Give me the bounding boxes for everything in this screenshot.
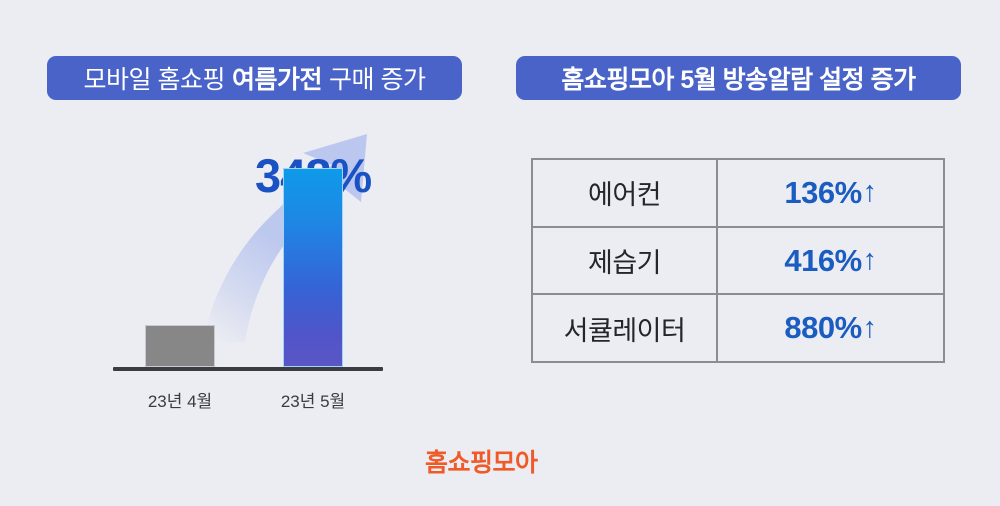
table-row: 제습기 416%↑ bbox=[533, 228, 943, 296]
table-value-number: 880% bbox=[784, 310, 861, 346]
axis-tick-may: 23년 5월 bbox=[257, 387, 369, 412]
bar-april bbox=[145, 325, 215, 367]
arrow-up-icon: ↑ bbox=[863, 176, 877, 209]
bar-may bbox=[283, 168, 343, 367]
axis-tick-april: 23년 4월 bbox=[124, 387, 236, 412]
arrow-up-icon: ↑ bbox=[863, 312, 877, 345]
banner-left-part3: 구매 증가 bbox=[329, 60, 425, 96]
brand-logo: 홈쇼핑모아 bbox=[425, 443, 538, 479]
table-value-number: 136% bbox=[784, 175, 861, 211]
table-cell-product: 서큘레이터 bbox=[533, 295, 718, 361]
table-row: 서큘레이터 880%↑ bbox=[533, 295, 943, 361]
table-value-number: 416% bbox=[784, 243, 861, 279]
table-cell-value: 880%↑ bbox=[718, 295, 943, 361]
table-cell-value: 136%↑ bbox=[718, 160, 943, 226]
chart-baseline bbox=[113, 367, 383, 371]
bar-chart: 348% 23년 4월 23년 5월 bbox=[100, 110, 440, 460]
alarm-increase-table: 에어컨 136%↑ 제습기 416%↑ 서큘레이터 880%↑ bbox=[531, 158, 945, 363]
table-row: 에어컨 136%↑ bbox=[533, 160, 943, 228]
banner-left-title: 모바일 홈쇼핑 여름가전 구매 증가 bbox=[47, 56, 462, 100]
infographic-canvas: 모바일 홈쇼핑 여름가전 구매 증가 홈쇼핑모아 5월 방송알람 설정 증가 3… bbox=[0, 0, 1000, 506]
banner-right-title: 홈쇼핑모아 5월 방송알람 설정 증가 bbox=[516, 56, 961, 100]
table-cell-product: 제습기 bbox=[533, 228, 718, 294]
table-cell-value: 416%↑ bbox=[718, 228, 943, 294]
banner-left-part2-bold: 여름가전 bbox=[232, 60, 322, 96]
banner-left-part1: 모바일 홈쇼핑 bbox=[84, 60, 225, 96]
table-cell-product: 에어컨 bbox=[533, 160, 718, 226]
arrow-up-icon: ↑ bbox=[863, 244, 877, 277]
